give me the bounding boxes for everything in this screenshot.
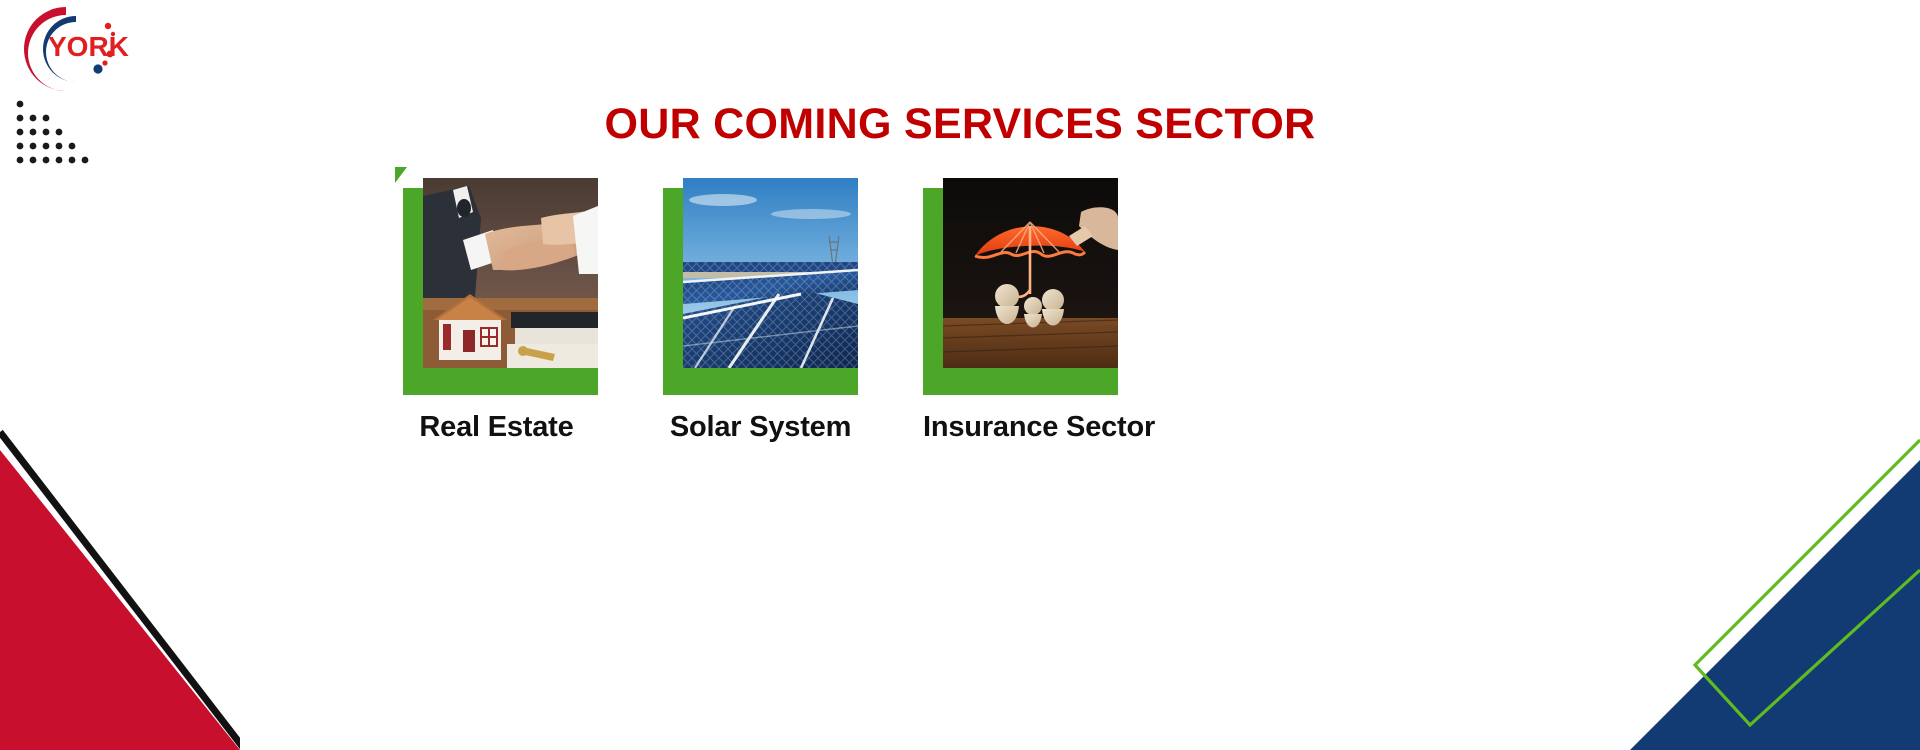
slide-canvas: YORK OUR COMING SERVICES SECTOR [0,0,1920,750]
services-card-row: Real Estate [403,188,1118,444]
logo-dot-2 [111,32,115,36]
service-card-real-estate[interactable]: Real Estate [403,188,598,444]
logo-wordmark: YORK [48,31,129,62]
bottom-right-chevron-decoration [1590,330,1920,750]
card-image-insurance-sector [943,178,1118,368]
card-image-solar-system [683,178,858,368]
logo-dot-3 [107,51,114,58]
york-logo: YORK [4,2,144,94]
york-logo-mark: YORK [4,2,144,94]
red-triangle [0,450,240,750]
logo-dot-1 [105,23,111,29]
card-accent-frame [403,188,598,395]
black-diagonal-line [0,432,240,750]
green-tick-marker [395,167,407,183]
logo-dot-5 [93,64,102,73]
card-accent-frame [923,188,1118,395]
green-outline-accent [1695,440,1920,725]
card-accent-frame [663,188,858,395]
navy-chevron [1630,330,1920,750]
page-title: OUR COMING SERVICES SECTOR [0,100,1920,149]
bottom-left-triangle-decoration [0,420,240,750]
card-label-solar-system: Solar System [663,411,858,444]
service-card-solar-system[interactable]: Solar System [663,188,858,444]
card-image-real-estate [423,178,598,368]
logo-dot-4 [102,60,107,65]
service-card-insurance-sector[interactable]: Insurance Sector [923,188,1118,444]
card-label-insurance-sector: Insurance Sector [923,411,1118,444]
card-label-real-estate: Real Estate [395,411,598,444]
